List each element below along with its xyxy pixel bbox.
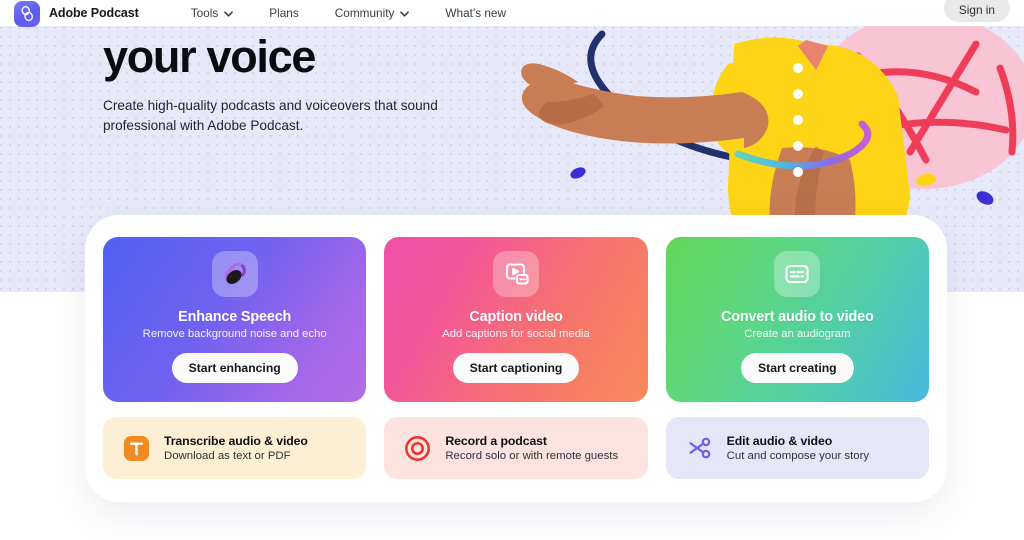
nav-item-community-label: Community <box>335 6 395 20</box>
feature-card-title: Caption video <box>469 309 562 325</box>
video-cc-icon <box>493 251 539 297</box>
brand-name: Adobe Podcast <box>49 6 139 20</box>
hero-copy: your voice Create high-quality podcasts … <box>103 34 533 135</box>
feature-card-convert-audio-to-video[interactable]: Convert audio to video Create an audiogr… <box>666 237 929 402</box>
feature-card-title: Enhance Speech <box>178 309 291 325</box>
quick-links-row: Transcribe audio & video Download as tex… <box>103 417 929 479</box>
nav-links: Tools Plans Community What's new <box>173 0 524 26</box>
quick-link-subtitle: Cut and compose your story <box>727 450 869 462</box>
nav-item-whats-new[interactable]: What's new <box>427 0 524 26</box>
nav-item-tools[interactable]: Tools <box>173 0 252 26</box>
start-captioning-button[interactable]: Start captioning <box>453 353 580 383</box>
feature-card-subtitle: Add captions for social media <box>442 328 590 340</box>
nav-item-plans[interactable]: Plans <box>251 0 317 26</box>
top-navigation-bar: Adobe Podcast Tools Plans Community What… <box>0 0 1024 26</box>
adobe-podcast-logo-icon <box>14 1 40 27</box>
hero-subtitle: Create high-quality podcasts and voiceov… <box>103 96 475 135</box>
quick-link-title: Record a podcast <box>445 434 618 448</box>
start-creating-button[interactable]: Start creating <box>741 353 854 383</box>
microphone-icon <box>212 251 258 297</box>
tools-panel: Enhance Speech Remove background noise a… <box>85 215 947 502</box>
nav-item-plans-label: Plans <box>269 6 299 20</box>
nav-item-community[interactable]: Community <box>317 0 428 26</box>
start-enhancing-button[interactable]: Start enhancing <box>172 353 298 383</box>
feature-card-subtitle: Create an audiogram <box>744 328 850 340</box>
quick-link-title: Transcribe audio & video <box>164 434 308 448</box>
feature-card-title: Convert audio to video <box>721 309 874 325</box>
quick-link-subtitle: Download as text or PDF <box>164 450 308 462</box>
adobe-podcast-homepage: Adobe Podcast Tools Plans Community What… <box>0 0 1024 540</box>
quick-link-transcribe[interactable]: Transcribe audio & video Download as tex… <box>103 417 366 479</box>
chevron-down-icon <box>224 6 233 20</box>
transcribe-t-icon <box>121 433 151 463</box>
brand-home-link[interactable]: Adobe Podcast <box>14 0 139 27</box>
quick-link-title: Edit audio & video <box>727 434 869 448</box>
feature-card-caption-video[interactable]: Caption video Add captions for social me… <box>384 237 647 402</box>
quick-link-record[interactable]: Record a podcast Record solo or with rem… <box>384 417 647 479</box>
feature-card-subtitle: Remove background noise and echo <box>143 328 327 340</box>
sign-in-button[interactable]: Sign in <box>944 0 1010 22</box>
feature-cards-row: Enhance Speech Remove background noise a… <box>103 237 929 402</box>
feature-card-enhance-speech[interactable]: Enhance Speech Remove background noise a… <box>103 237 366 402</box>
audiogram-icon <box>774 251 820 297</box>
record-target-icon <box>402 433 432 463</box>
nav-item-tools-label: Tools <box>191 6 219 20</box>
page-title: your voice <box>103 34 533 79</box>
chevron-down-icon <box>400 6 409 20</box>
nav-item-whats-new-label: What's new <box>445 6 506 20</box>
quick-link-edit[interactable]: Edit audio & video Cut and compose your … <box>666 417 929 479</box>
quick-link-subtitle: Record solo or with remote guests <box>445 450 618 462</box>
scissors-icon <box>684 433 714 463</box>
